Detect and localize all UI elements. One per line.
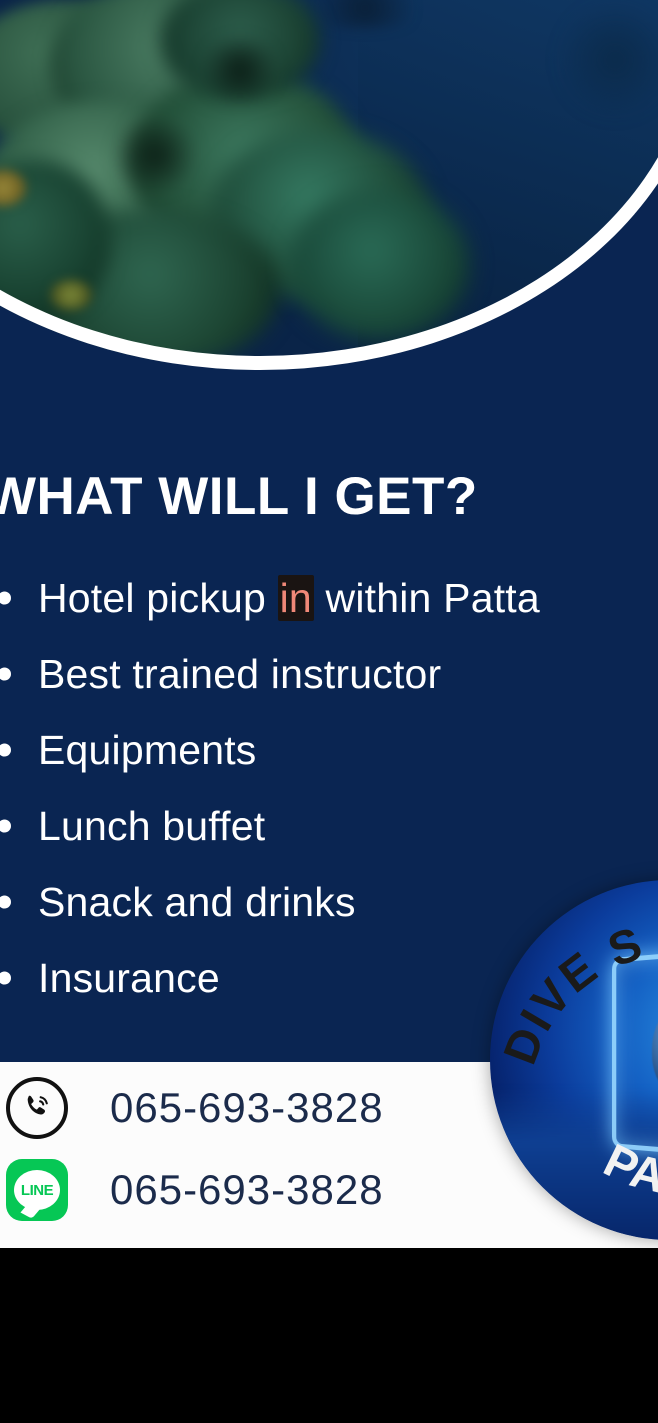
line-number[interactable]: 065-693-3828	[110, 1166, 384, 1214]
bullet-icon	[0, 896, 11, 909]
badge-arc-bottom-text: PAT	[596, 1133, 658, 1204]
benefit-text: Best trained instructor	[38, 651, 441, 698]
page-title: WHAT WILL I GET?	[0, 466, 658, 527]
dive-shop-badge: DIVE S PAT	[490, 880, 658, 1240]
coral-reef-mass	[0, 0, 480, 360]
phone-contact-row[interactable]: 065-693-3828	[6, 1076, 384, 1140]
poster-canvas: WHAT WILL I GET? Hotel pickup in within …	[0, 0, 658, 1248]
bullet-icon	[0, 744, 11, 757]
line-contact-row[interactable]: LINE 065-693-3828	[6, 1158, 384, 1222]
list-item: Best trained instructor	[0, 636, 658, 712]
bullet-icon	[0, 972, 11, 985]
list-item: Equipments	[0, 712, 658, 788]
benefit-text: Hotel pickup in within Patta	[38, 575, 540, 622]
list-item: Lunch buffet	[0, 788, 658, 864]
line-app-icon: LINE	[6, 1159, 68, 1221]
benefit-text: Lunch buffet	[38, 803, 265, 850]
line-icon-label: LINE	[21, 1182, 53, 1199]
phone-number[interactable]: 065-693-3828	[110, 1084, 384, 1132]
bullet-icon	[0, 668, 11, 681]
bullet-icon	[0, 592, 11, 605]
list-item: Hotel pickup in within Patta	[0, 560, 658, 636]
black-letterbox	[0, 1248, 658, 1423]
benefit-text: Insurance	[38, 955, 220, 1002]
highlighted-word: in	[278, 575, 314, 621]
bullet-icon	[0, 820, 11, 833]
benefit-text: Snack and drinks	[38, 879, 356, 926]
phone-call-icon	[6, 1077, 68, 1139]
coral-reef-photo	[0, 0, 658, 360]
benefit-text: Equipments	[38, 727, 257, 774]
